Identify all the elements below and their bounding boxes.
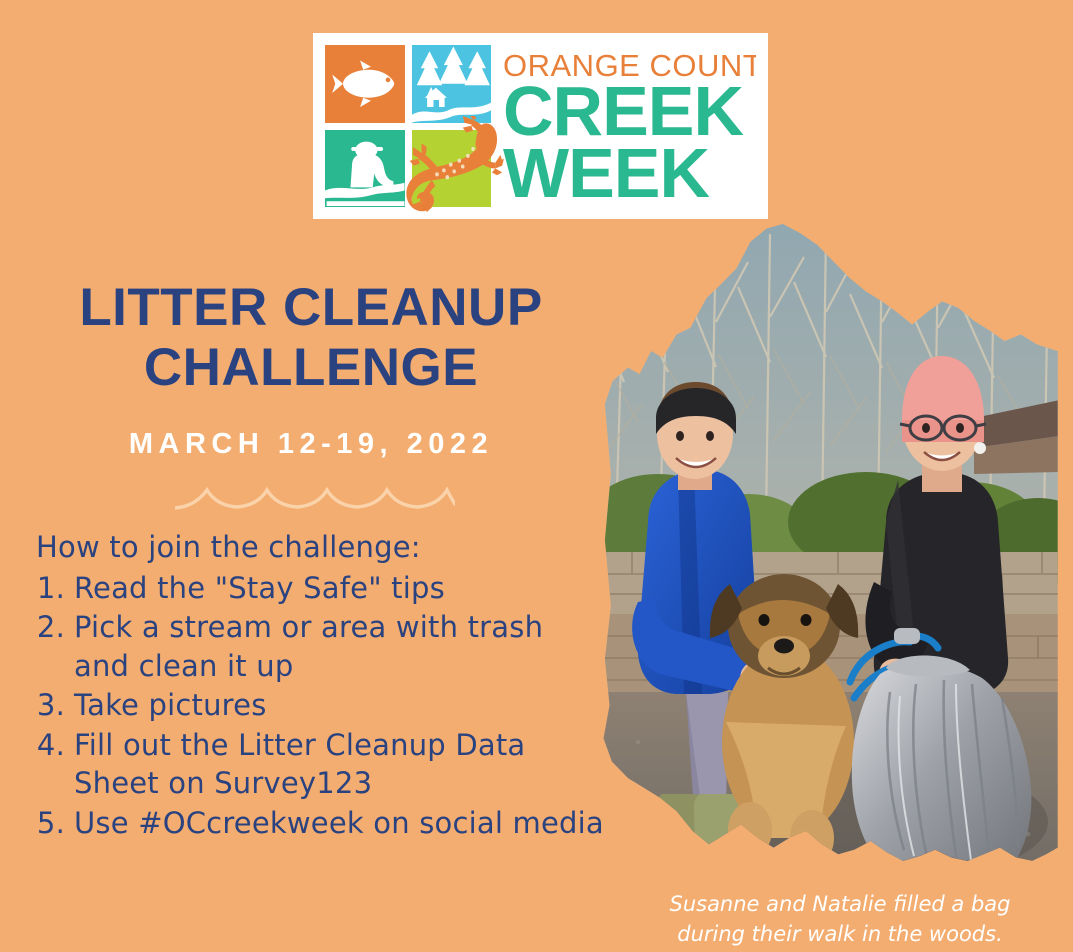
howto-heading: How to join the challenge: — [36, 528, 606, 567]
forest-cabin-creek-icon — [412, 45, 492, 123]
list-item-number: 3. — [36, 686, 74, 725]
logo-week-text: WEEK — [503, 145, 756, 202]
list-item-number: 4. — [36, 726, 74, 765]
howto-section: How to join the challenge: 1. Read the "… — [36, 528, 606, 844]
list-item-number: 2. — [36, 608, 74, 647]
photo-illustration — [598, 222, 1060, 884]
list-item-text: Take pictures — [74, 686, 606, 725]
page-title: LITTER CLEANUP CHALLENGE — [26, 278, 596, 398]
list-item: 4. Fill out the Litter Cleanup Data Shee… — [36, 726, 606, 803]
logo-wordmark: ORANGE COUNTY CREEK WEEK — [503, 45, 756, 207]
headline-line-2: CHALLENGE — [26, 338, 596, 398]
kayaker-icon — [325, 130, 405, 208]
list-item-number: 1. — [36, 569, 74, 608]
fish-icon — [325, 45, 405, 123]
event-photo — [598, 222, 1060, 884]
event-dates: MARCH 12-19, 2022 — [26, 428, 596, 461]
headline-line-1: LITTER CLEANUP — [26, 278, 596, 338]
logo-creek-text: CREEK — [503, 83, 756, 140]
howto-step-list: 1. Read the "Stay Safe" tips 2. Pick a s… — [36, 569, 606, 843]
list-item-text: Read the "Stay Safe" tips — [74, 569, 606, 608]
photo-caption-line-2: during their walk in the woods. — [630, 920, 1050, 950]
wave-divider-icon — [175, 476, 455, 516]
list-item-text: Use #OCcreekweek on social media — [74, 804, 606, 843]
photo-caption: Susanne and Natalie filled a bag during … — [630, 890, 1050, 950]
list-item-number: 5. — [36, 804, 74, 843]
photo-caption-line-1: Susanne and Natalie filled a bag — [630, 890, 1050, 920]
list-item-text: Pick a stream or area with trash and cle… — [74, 608, 606, 685]
photo-torn-edge-frame — [598, 222, 1060, 884]
list-item-text: Fill out the Litter Cleanup Data Sheet o… — [74, 726, 606, 803]
gecko-tile — [412, 130, 492, 208]
list-item: 1. Read the "Stay Safe" tips — [36, 569, 606, 608]
logo-icon-grid — [325, 45, 491, 207]
list-item: 3. Take pictures — [36, 686, 606, 725]
list-item: 2. Pick a stream or area with trash and … — [36, 608, 606, 685]
list-item: 5. Use #OCcreekweek on social media — [36, 804, 606, 843]
creek-week-logo: ORANGE COUNTY CREEK WEEK — [313, 33, 768, 219]
poster-canvas: ORANGE COUNTY CREEK WEEK LITTER CLEANUP … — [0, 0, 1073, 952]
